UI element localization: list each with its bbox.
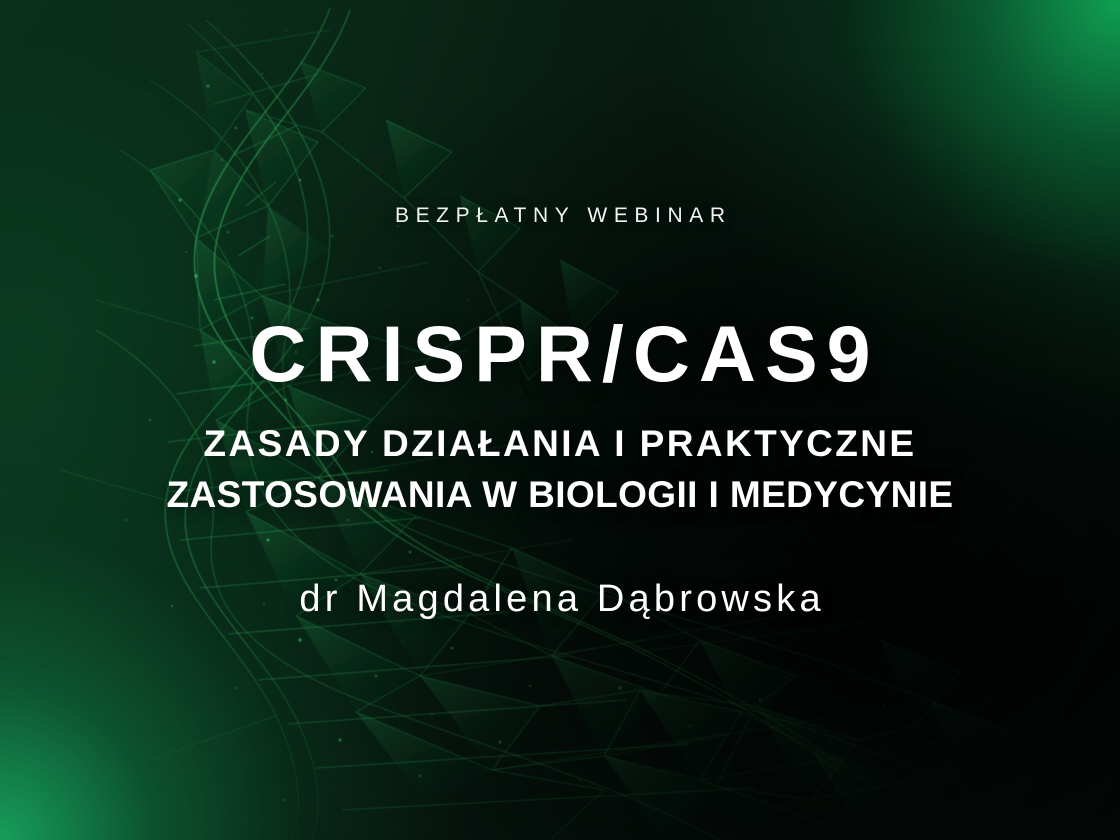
- subtitle-line-1: ZASADY DZIAŁANIA I PRAKTYCZNE: [0, 418, 1120, 469]
- subtitle-line-2: ZASTOSOWANIA W BIOLOGII I MEDYCYNIE: [0, 469, 1120, 520]
- webinar-promo-slide: BEZPŁATNY WEBINAR CRISPR/CAS9 ZASADY DZI…: [0, 0, 1120, 840]
- subtitle: ZASADY DZIAŁANIA I PRAKTYCZNE ZASTOSOWAN…: [0, 418, 1120, 520]
- page-title: CRISPR/CAS9: [0, 313, 1120, 396]
- slide-content: BEZPŁATNY WEBINAR CRISPR/CAS9 ZASADY DZI…: [0, 0, 1120, 840]
- speaker-name: dr Magdalena Dąbrowska: [0, 578, 1120, 621]
- kicker-label: BEZPŁATNY WEBINAR: [0, 204, 1120, 228]
